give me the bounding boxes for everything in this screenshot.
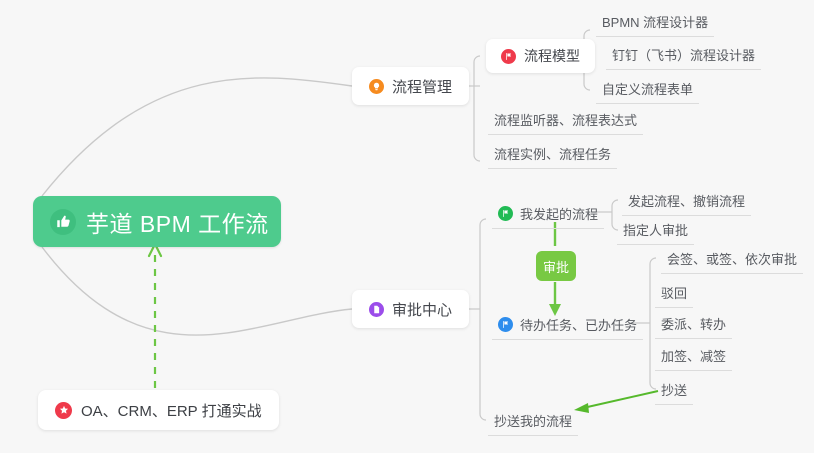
flag-icon	[498, 206, 513, 221]
leaf-process-listener-expression[interactable]: 流程监听器、流程表达式	[488, 108, 643, 135]
branch-label: 审批中心	[392, 299, 452, 320]
leaf-process-instance-task[interactable]: 流程实例、流程任务	[488, 142, 617, 169]
flag-icon	[498, 317, 513, 332]
leaf-dingtalk-feishu-designer[interactable]: 钉钉（飞书）流程设计器	[606, 43, 761, 70]
leaf-delegate-transfer[interactable]: 委派、转办	[655, 312, 732, 339]
leaf-assigned-approver[interactable]: 指定人审批	[617, 218, 694, 245]
leaf-cc[interactable]: 抄送	[655, 378, 693, 405]
node-label: 我发起的流程	[520, 204, 598, 223]
thumbs-up-icon	[50, 209, 76, 235]
flag-icon	[501, 49, 516, 64]
node-label: 待办任务、已办任务	[520, 315, 637, 334]
document-icon	[369, 302, 384, 317]
leaf-reject[interactable]: 驳回	[655, 281, 693, 308]
leaf-cc-my-process[interactable]: 抄送我的流程	[488, 409, 578, 436]
bottom-node-integration[interactable]: OA、CRM、ERP 打通实战	[38, 390, 279, 430]
leaf-custom-form[interactable]: 自定义流程表单	[596, 77, 699, 104]
mindmap-canvas: 芋道 BPM 工作流 流程管理 流程模型 BPMN 流程设计器 钉钉（飞书）流程…	[0, 0, 814, 453]
star-icon	[55, 402, 72, 419]
branch-approval-center[interactable]: 审批中心	[352, 290, 469, 328]
node-my-initiated-process[interactable]: 我发起的流程	[492, 202, 604, 229]
bottom-node-label: OA、CRM、ERP 打通实战	[81, 400, 262, 421]
leaf-countersign[interactable]: 会签、或签、依次审批	[661, 247, 803, 274]
summary-badge-approval[interactable]: 审批	[536, 251, 576, 281]
leaf-start-cancel-process[interactable]: 发起流程、撤销流程	[622, 189, 751, 216]
leaf-bpmn-designer[interactable]: BPMN 流程设计器	[596, 10, 714, 37]
node-todo-done-tasks[interactable]: 待办任务、已办任务	[492, 313, 643, 340]
branch-label: 流程管理	[392, 76, 452, 97]
root-node[interactable]: 芋道 BPM 工作流	[33, 196, 281, 247]
lightbulb-icon	[369, 79, 384, 94]
root-label: 芋道 BPM 工作流	[86, 205, 269, 239]
leaf-add-remove-sign[interactable]: 加签、减签	[655, 344, 732, 371]
branch-process-management[interactable]: 流程管理	[352, 67, 469, 105]
node-label: 流程模型	[524, 46, 580, 66]
node-process-model[interactable]: 流程模型	[486, 39, 595, 73]
